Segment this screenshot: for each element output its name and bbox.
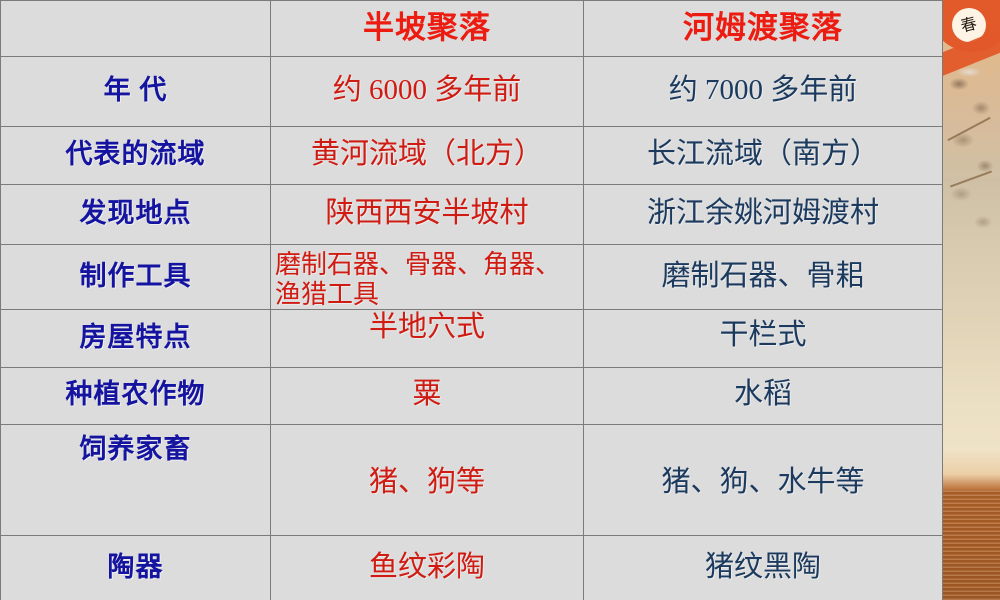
table-cell-banpo-pottery: 鱼纹彩陶 (270, 535, 584, 600)
table-row-label-river-basin: 代表的流域 (0, 126, 271, 185)
table-cell-banpo-livestock: 猪、狗等 (270, 424, 584, 536)
table-row-label-pottery: 陶器 (0, 535, 271, 600)
table-cell-banpo-house: 半地穴式 (270, 309, 584, 368)
row-label-pottery: 陶器 (1, 553, 270, 582)
table-row-label-crops: 种植农作物 (0, 367, 271, 425)
table-row-label-tools: 制作工具 (0, 244, 271, 310)
row-label-house: 房屋特点 (1, 323, 270, 352)
table-cell-hemudu-pottery: 猪纹黑陶 (583, 535, 943, 600)
cell-banpo-crops: 粟 (271, 379, 583, 410)
cell-hemudu-house: 干栏式 (584, 320, 942, 351)
cell-hemudu-river-basin: 长江流域（南方） (584, 139, 942, 170)
row-label-era: 年 代 (1, 76, 270, 105)
table-row-label-discovery-site: 发现地点 (0, 184, 271, 245)
table-cell-hemudu-crops: 水稻 (583, 367, 943, 425)
cell-banpo-tools: 磨制石器、骨器、角器、渔猎工具 (271, 250, 583, 310)
table-header-hemudu: 河姆渡聚落 (583, 0, 943, 57)
row-label-river-basin: 代表的流域 (1, 140, 270, 169)
row-label-discovery-site: 发现地点 (1, 199, 270, 228)
table-cell-hemudu-tools: 磨制石器、骨耜 (583, 244, 943, 310)
cell-banpo-discovery-site: 陕西西安半坡村 (271, 198, 583, 229)
table-row-label-livestock: 饲养家畜 (0, 424, 271, 536)
row-label-livestock: 饲养家畜 (1, 435, 270, 464)
cell-hemudu-pottery: 猪纹黑陶 (584, 552, 942, 583)
cell-hemudu-era: 约 7000 多年前 (584, 75, 942, 106)
table-row-label-era: 年 代 (0, 56, 271, 127)
cell-banpo-river-basin: 黄河流域（北方） (271, 139, 583, 170)
table-cell-hemudu-house: 干栏式 (583, 309, 943, 368)
table-row-label-house: 房屋特点 (0, 309, 271, 368)
table-cell-banpo-river-basin: 黄河流域（北方） (270, 126, 584, 185)
header-hemudu-label: 河姆渡聚落 (584, 11, 942, 44)
table-header-banpo: 半坡聚落 (270, 0, 584, 57)
decorative-illustration-strip: 春 (943, 0, 1000, 600)
cell-banpo-era: 约 6000 多年前 (271, 75, 583, 106)
slide-canvas: 半坡聚落 河姆渡聚落 年 代 约 6000 多年前 约 7000 多年前 代表的… (0, 0, 1000, 600)
table-cell-banpo-era: 约 6000 多年前 (270, 56, 584, 127)
header-banpo-label: 半坡聚落 (271, 11, 583, 44)
row-label-crops: 种植农作物 (1, 380, 270, 409)
table-cell-banpo-crops: 粟 (270, 367, 584, 425)
cell-hemudu-tools: 磨制石器、骨耜 (584, 261, 942, 292)
table-cell-hemudu-era: 约 7000 多年前 (583, 56, 943, 127)
table-corner-cell (0, 0, 271, 57)
cell-hemudu-discovery-site: 浙江余姚河姆渡村 (584, 198, 942, 229)
table-cell-hemudu-river-basin: 长江流域（南方） (583, 126, 943, 185)
table-cell-banpo-discovery-site: 陕西西安半坡村 (270, 184, 584, 245)
cell-banpo-pottery: 鱼纹彩陶 (271, 552, 583, 583)
table-cell-banpo-tools: 磨制石器、骨器、角器、渔猎工具 (270, 244, 584, 310)
cell-banpo-livestock: 猪、狗等 (271, 467, 583, 498)
comparison-table: 半坡聚落 河姆渡聚落 年 代 约 6000 多年前 约 7000 多年前 代表的… (0, 0, 943, 600)
cell-hemudu-livestock: 猪、狗、水牛等 (584, 467, 942, 498)
cell-banpo-house: 半地穴式 (271, 312, 583, 343)
table-cell-hemudu-livestock: 猪、狗、水牛等 (583, 424, 943, 536)
ancient-figures-illustration (943, 62, 1000, 252)
ground-texture (943, 490, 1000, 600)
row-label-tools: 制作工具 (1, 262, 270, 291)
table-cell-hemudu-discovery-site: 浙江余姚河姆渡村 (583, 184, 943, 245)
cell-hemudu-crops: 水稻 (584, 379, 942, 410)
